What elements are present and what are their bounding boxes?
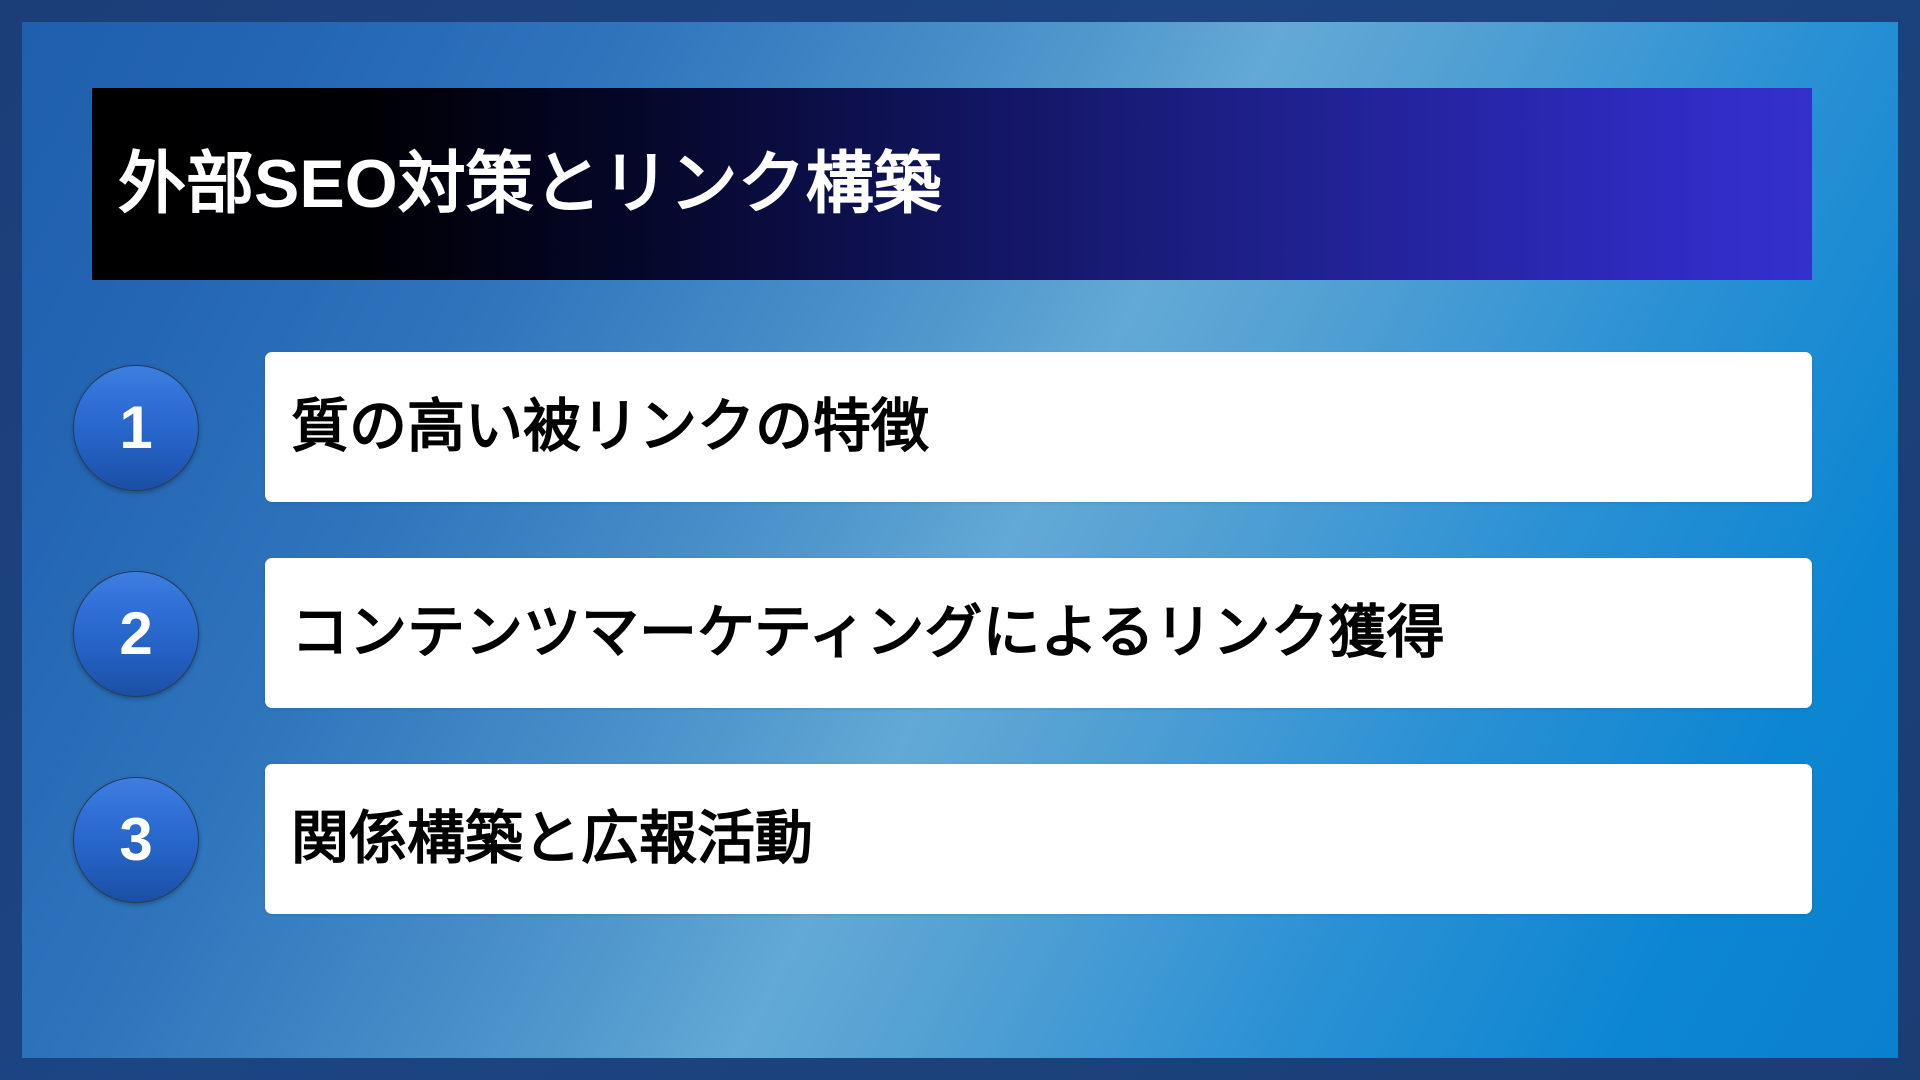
item-text-label: 質の高い被リンクの特徴 bbox=[291, 394, 929, 461]
slide-title-text: 外部SEO対策とリンク構築 bbox=[118, 147, 942, 222]
list-item[interactable]: 3 関係構築と広報活動 bbox=[22, 764, 1898, 914]
item-text-label: 関係構築と広報活動 bbox=[291, 806, 813, 873]
item-number-label: 2 bbox=[119, 604, 152, 664]
item-number-label: 1 bbox=[119, 398, 152, 458]
item-number-label: 3 bbox=[119, 810, 152, 870]
numbered-items-list: 1 質の高い被リンクの特徴 2 コンテンツマーケティングによるリンク獲得 3 bbox=[22, 352, 1898, 970]
item-content-box-2[interactable]: コンテンツマーケティングによるリンク獲得 bbox=[265, 558, 1812, 708]
item-content-box-3[interactable]: 関係構築と広報活動 bbox=[265, 764, 1812, 914]
slide-title-banner: 外部SEO対策とリンク構築 bbox=[92, 88, 1812, 280]
list-item[interactable]: 2 コンテンツマーケティングによるリンク獲得 bbox=[22, 558, 1898, 708]
item-number-badge-3: 3 bbox=[73, 777, 199, 903]
item-number-badge-1: 1 bbox=[73, 365, 199, 491]
item-text-label: コンテンツマーケティングによるリンク獲得 bbox=[291, 600, 1445, 667]
slide-canvas: 外部SEO対策とリンク構築 1 質の高い被リンクの特徴 2 コンテンツマーケティ… bbox=[22, 22, 1898, 1058]
item-content-box-1[interactable]: 質の高い被リンクの特徴 bbox=[265, 352, 1812, 502]
item-number-badge-2: 2 bbox=[73, 571, 199, 697]
list-item[interactable]: 1 質の高い被リンクの特徴 bbox=[22, 352, 1898, 502]
slide-outer-frame: 外部SEO対策とリンク構築 1 質の高い被リンクの特徴 2 コンテンツマーケティ… bbox=[0, 0, 1920, 1080]
